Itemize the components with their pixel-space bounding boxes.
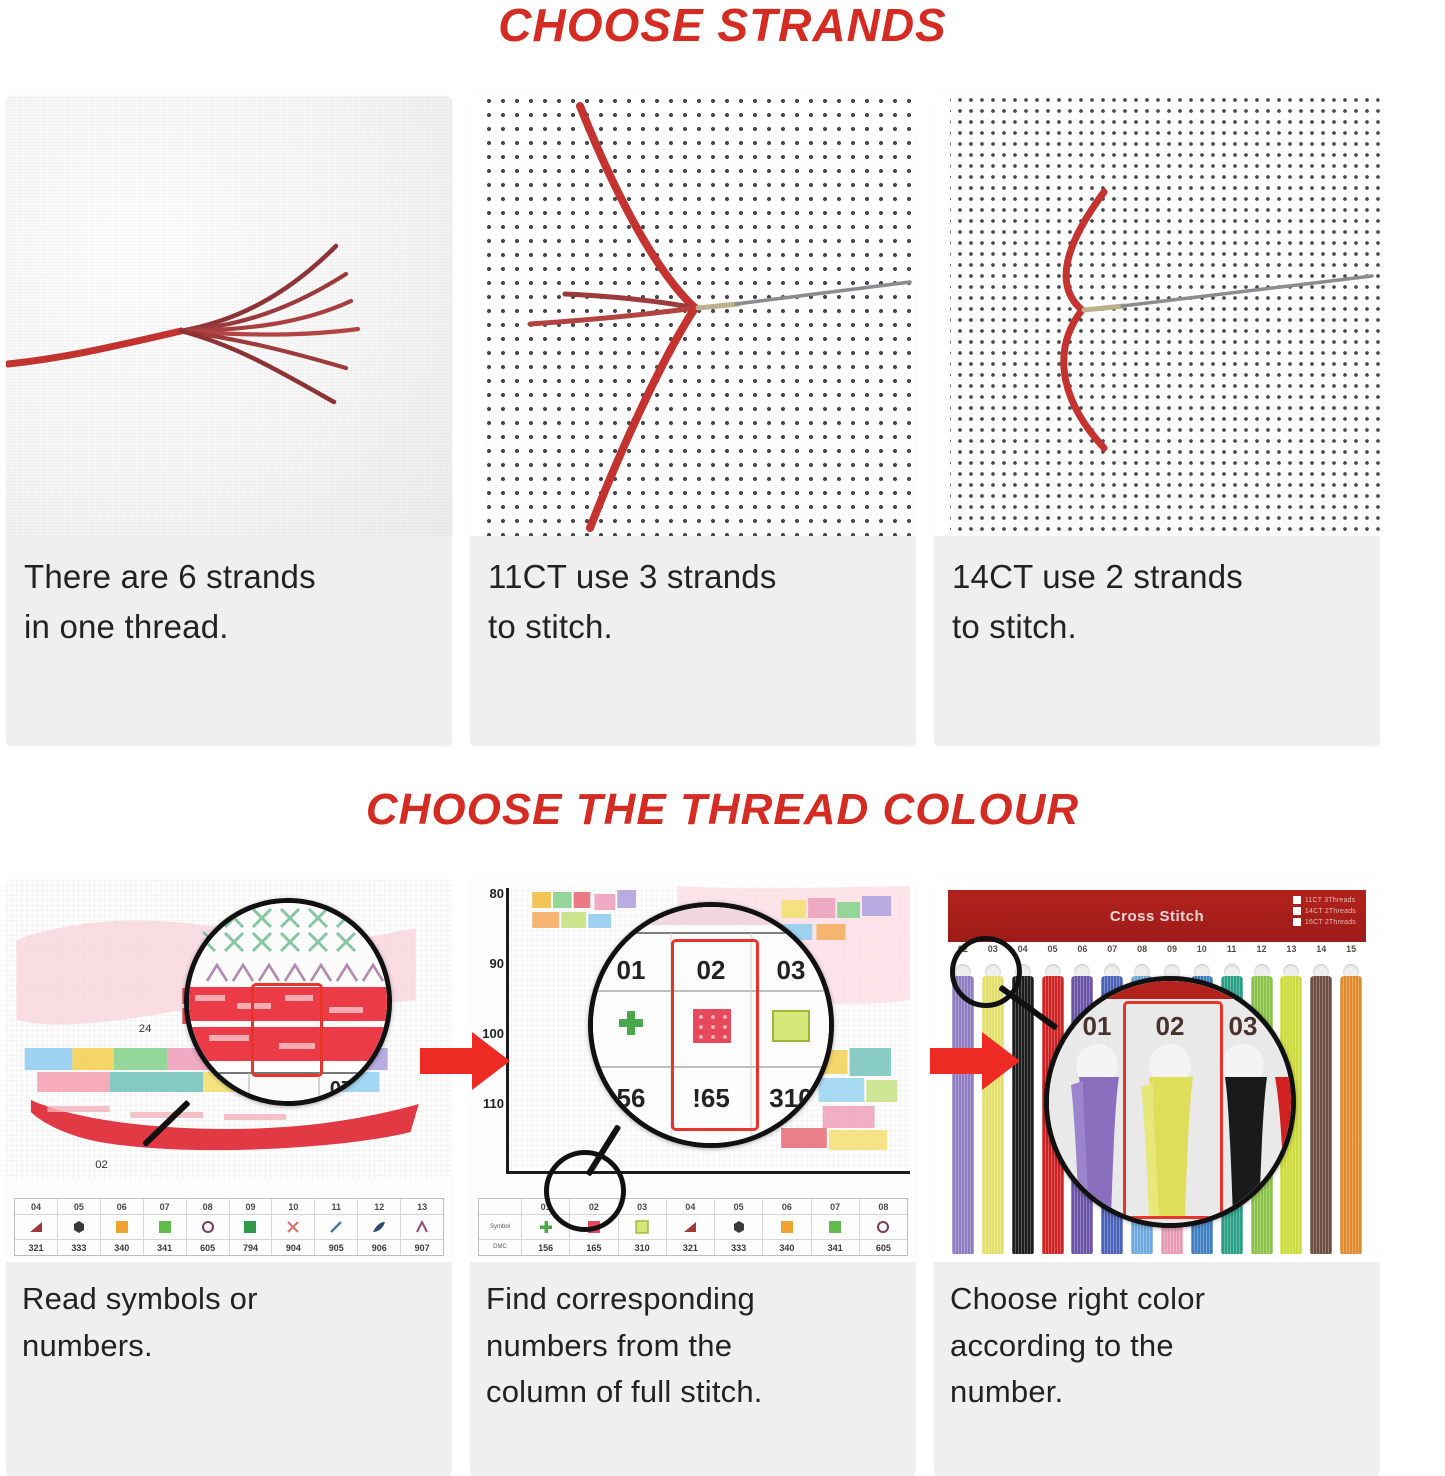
floss-card-header: Cross Stitch 11CT 3Threads 14CT 2Threads	[948, 890, 1366, 942]
caption-line-3: number.	[950, 1369, 1364, 1416]
card-choose-color: Cross Stitch 11CT 3Threads 14CT 2Threads	[934, 880, 1380, 1476]
legend-dmc: 904	[272, 1240, 315, 1255]
caption-line-1: Choose right color	[950, 1276, 1364, 1323]
legend-number: 06	[101, 1199, 144, 1214]
ruler-tick: 110	[483, 1096, 504, 1111]
symbol-diagonal-slash-icon	[315, 1215, 358, 1239]
legend-number: 03	[619, 1199, 667, 1214]
legend-number: 11	[315, 1199, 358, 1214]
magnified-skein-01: 01	[1083, 1011, 1112, 1041]
floss-bundle	[952, 976, 974, 1254]
legend-number: 04	[667, 1199, 715, 1214]
legend-key-dmc: DMC	[479, 1240, 522, 1255]
card-11ct: 11CT use 3 strands to stitch.	[470, 96, 916, 746]
legend-dmc: 907	[401, 1240, 443, 1255]
flow-arrow-1	[420, 1030, 512, 1092]
legend-dmc: 341	[812, 1240, 860, 1255]
floss-card-options: 11CT 3Threads 14CT 2Threads 16CT 2Thread…	[1293, 896, 1356, 926]
checkbox-icon	[1293, 896, 1301, 904]
legend-number: 05	[715, 1199, 763, 1214]
floss-bundle	[1340, 976, 1362, 1254]
symbol-triangle-icon	[667, 1215, 715, 1239]
caption-six-strands: There are 6 strands in one thread.	[6, 536, 452, 746]
card-six-strands: There are 6 strands in one thread.	[6, 96, 452, 746]
skein-number: 15	[1336, 944, 1366, 964]
section-heading-choose-strands: CHOOSE STRANDS	[0, 2, 1445, 48]
legend-dmc: 341	[144, 1240, 187, 1255]
card-find-numbers: 80 90 100 110	[470, 880, 916, 1476]
symbol-yellow-green-square-icon	[619, 1215, 667, 1239]
skein-number: 12	[1247, 944, 1277, 964]
skein	[1306, 962, 1336, 1254]
highlight-box	[251, 983, 323, 1077]
skein-number: 05	[1038, 944, 1068, 964]
caption-line-2: according to the	[950, 1323, 1364, 1370]
legend-dmc: 605	[860, 1240, 907, 1255]
option-label: 11CT 3Threads	[1305, 897, 1356, 904]
arrow-right-icon	[420, 1030, 512, 1092]
ruler-tick: 90	[490, 956, 504, 971]
legend-number: 06	[763, 1199, 811, 1214]
symbol-green-square-icon	[144, 1215, 187, 1239]
infographic-page: CHOOSE STRANDS	[0, 0, 1445, 1476]
symbol-legend-strip-2: 01 02 03 04 05 06 07 08 Symbol	[478, 1198, 908, 1256]
needle-and-two-strands-illustration	[934, 96, 1380, 536]
photo-14ct-aida	[934, 96, 1380, 536]
skein-number: 14	[1306, 944, 1336, 964]
skein-number: 06	[1067, 944, 1097, 964]
legend-dmc: 321	[667, 1240, 715, 1255]
legend-number: 09	[230, 1199, 273, 1214]
legend-dmc-row: 321 333 340 341 605 794 904 905 906 907	[15, 1240, 443, 1255]
option-label: 16CT 2Threads	[1305, 919, 1356, 926]
legend-dmc: 905	[315, 1240, 358, 1255]
photo-pattern-chart-symbols: 24 02	[6, 880, 452, 1262]
skein-number: 13	[1276, 944, 1306, 964]
needle-and-three-strands-illustration	[470, 96, 916, 536]
caption-choose-color: Choose right color according to the numb…	[934, 1262, 1380, 1476]
legend-number: 05	[58, 1199, 101, 1214]
caption-find-numbers: Find corresponding numbers from the colu…	[470, 1262, 916, 1476]
legend-dmc: 310	[619, 1240, 667, 1255]
chart-cell-label-24: 24	[139, 1023, 152, 1035]
caption-line-1: 11CT use 3 strands	[488, 552, 898, 602]
option-row: 16CT 2Threads	[1293, 918, 1356, 926]
photo-pattern-chart-numbers: 80 90 100 110	[470, 880, 916, 1262]
legend-number: 08	[860, 1199, 907, 1214]
legend-number: 07	[812, 1199, 860, 1214]
caption-line-2: numbers.	[22, 1323, 436, 1370]
thread-six-strands-illustration	[6, 96, 452, 536]
legend-dmc: 156	[522, 1240, 570, 1255]
caption-line-2: to stitch.	[952, 602, 1362, 652]
floss-bundle	[1310, 976, 1332, 1254]
magnifier-lens-numbers: 01 02 03	[588, 902, 834, 1148]
caption-line-2: numbers from the	[486, 1323, 900, 1370]
caption-line-2: to stitch.	[488, 602, 898, 652]
legend-dmc: 906	[358, 1240, 401, 1255]
symbol-hexagon-dot-icon	[715, 1215, 763, 1239]
magnified-column-03: 03	[777, 955, 806, 985]
skein-number: 11	[1217, 944, 1247, 964]
magnifier-lens-symbols: 3 07	[184, 898, 392, 1106]
legend-dmc: 794	[230, 1240, 273, 1255]
symbol-open-circle-icon	[187, 1215, 230, 1239]
legend-number: 13	[401, 1199, 443, 1214]
bottom-card-row: 24 02	[0, 880, 1445, 1476]
legend-dmc: 165	[570, 1240, 618, 1255]
floss-bundle	[982, 976, 1004, 1254]
chart-cell-label-02: 02	[95, 1159, 108, 1171]
caption-14ct: 14CT use 2 strands to stitch.	[934, 536, 1380, 746]
option-label: 14CT 2Threads	[1305, 908, 1356, 915]
symbol-legend-strip: 04 05 06 07 08 09 10 11 12 13	[14, 1198, 444, 1256]
magnified-skein-03: 03	[1229, 1011, 1258, 1041]
symbol-hexagon-dot-icon	[58, 1215, 101, 1239]
legend-number: 12	[358, 1199, 401, 1214]
legend-dmc: 321	[15, 1240, 58, 1255]
floss-card-title: Cross Stitch	[1110, 908, 1204, 925]
symbol-triangle-icon	[15, 1215, 58, 1239]
highlight-box-skein-02	[1123, 1001, 1223, 1219]
caption-line-3: column of full stitch.	[486, 1369, 900, 1416]
symbol-orange-square-icon	[101, 1215, 144, 1239]
section-heading-choose-thread-colour: CHOOSE THE THREAD COLOUR	[0, 788, 1445, 832]
legend-number-row: 04 05 06 07 08 09 10 11 12 13	[15, 1199, 443, 1215]
legend-number: 07	[144, 1199, 187, 1214]
legend-number: 08	[187, 1199, 230, 1214]
skein-number: 07	[1097, 944, 1127, 964]
legend-dmc: 605	[187, 1240, 230, 1255]
skein	[1336, 962, 1366, 1254]
symbol-orange-square-icon	[763, 1215, 811, 1239]
caption-line-1: Find corresponding	[486, 1276, 900, 1323]
highlight-box-column-02	[671, 939, 759, 1131]
caption-11ct: 11CT use 3 strands to stitch.	[470, 536, 916, 746]
ruler-tick: 80	[490, 886, 504, 901]
card-14ct: 14CT use 2 strands to stitch.	[934, 96, 1380, 746]
arrow-right-icon	[930, 1030, 1022, 1092]
legend-dmc: 340	[101, 1240, 144, 1255]
floss-bundle	[1012, 976, 1034, 1254]
symbol-open-circle-icon	[860, 1215, 907, 1239]
symbol-lambda-icon	[401, 1215, 443, 1239]
magnified-symbol-green-open-square	[773, 1011, 809, 1041]
photo-thread-split	[6, 96, 452, 536]
legend-dmc: 333	[58, 1240, 101, 1255]
symbol-leaf-icon	[358, 1215, 401, 1239]
legend-symbol-row-2: Symbol	[479, 1215, 907, 1240]
legend-circle-highlight	[544, 1150, 626, 1232]
option-row: 11CT 3Threads	[1293, 896, 1356, 904]
card-read-symbols: 24 02	[6, 880, 452, 1476]
skein-number: 08	[1127, 944, 1157, 964]
caption-line-2: in one thread.	[24, 602, 434, 652]
top-card-row: There are 6 strands in one thread.	[0, 96, 1445, 746]
legend-number: 04	[15, 1199, 58, 1214]
legend-dmc: 340	[763, 1240, 811, 1255]
caption-read-symbols: Read symbols or numbers.	[6, 1262, 452, 1476]
legend-dmc-row-2: DMC 156 165 310 321 333 340 341 605	[479, 1240, 907, 1255]
symbol-cross-x-icon	[272, 1215, 315, 1239]
caption-line-1: 14CT use 2 strands	[952, 552, 1362, 602]
legend-number-row-2: 01 02 03 04 05 06 07 08	[479, 1199, 907, 1215]
legend-symbol-row	[15, 1215, 443, 1240]
magnifier-lens-floss: 01 02 03	[1044, 976, 1296, 1228]
symbol-dark-green-square-icon	[230, 1215, 273, 1239]
skein-number: 10	[1187, 944, 1217, 964]
legend-number: 10	[272, 1199, 315, 1214]
legend-key-blank	[479, 1199, 522, 1214]
caption-line-1: There are 6 strands	[24, 552, 434, 602]
symbol-green-square-icon	[812, 1215, 860, 1239]
checkbox-icon	[1293, 907, 1301, 915]
magnified-dmc-1: 56	[617, 1083, 646, 1113]
flow-arrow-2	[930, 1030, 1022, 1092]
checkbox-icon	[1293, 918, 1301, 926]
magnified-column-01: 01	[617, 955, 646, 985]
option-row: 14CT 2Threads	[1293, 907, 1356, 915]
legend-dmc: 333	[715, 1240, 763, 1255]
legend-key-symbol: Symbol	[479, 1215, 522, 1239]
caption-line-1: Read symbols or	[22, 1276, 436, 1323]
skein-number: 09	[1157, 944, 1187, 964]
photo-11ct-aida	[470, 96, 916, 536]
